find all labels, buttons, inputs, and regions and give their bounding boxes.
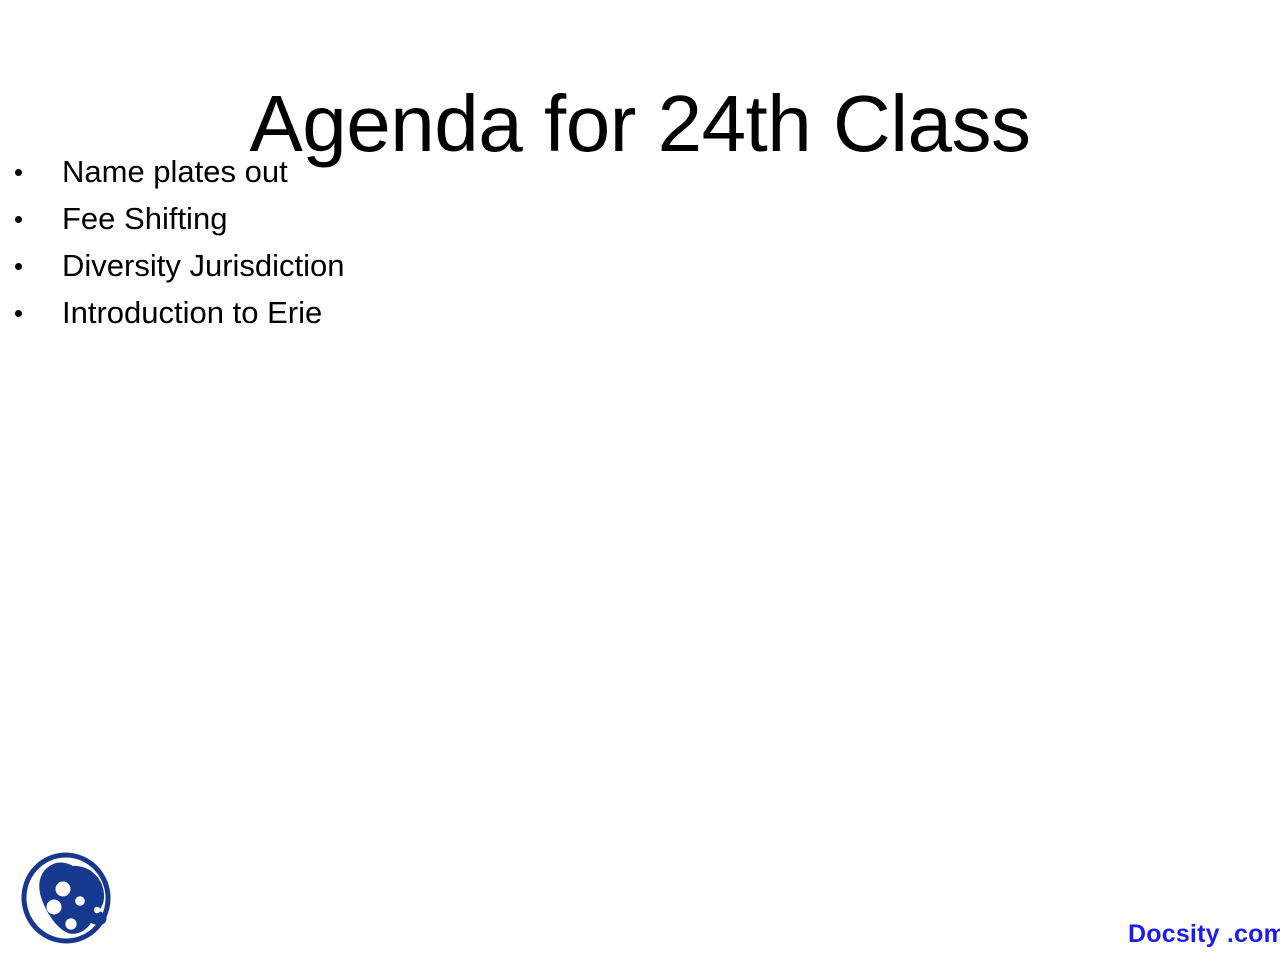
presentation-slide: Agenda for 24th Class Name plates out Fe… bbox=[0, 0, 1280, 960]
bullet-point-icon bbox=[15, 216, 22, 223]
list-item-label: Diversity Jurisdiction bbox=[62, 242, 345, 289]
bullet-point-icon bbox=[15, 169, 22, 176]
list-item: Name plates out bbox=[0, 148, 1100, 195]
docsity-cookie-logo-icon bbox=[18, 848, 118, 952]
bullet-point-icon bbox=[15, 263, 22, 270]
list-item-label: Name plates out bbox=[62, 148, 288, 195]
agenda-bullet-list: Name plates out Fee Shifting Diversity J… bbox=[0, 148, 1100, 336]
list-item-label: Fee Shifting bbox=[62, 195, 227, 242]
bullet-point-icon bbox=[15, 310, 22, 317]
docsity-watermark-text: Docsity .com bbox=[1128, 920, 1280, 949]
list-item: Diversity Jurisdiction bbox=[0, 242, 1100, 289]
list-item: Fee Shifting bbox=[0, 195, 1100, 242]
list-item-label: Introduction to Erie bbox=[62, 289, 322, 336]
list-item: Introduction to Erie bbox=[0, 289, 1100, 336]
